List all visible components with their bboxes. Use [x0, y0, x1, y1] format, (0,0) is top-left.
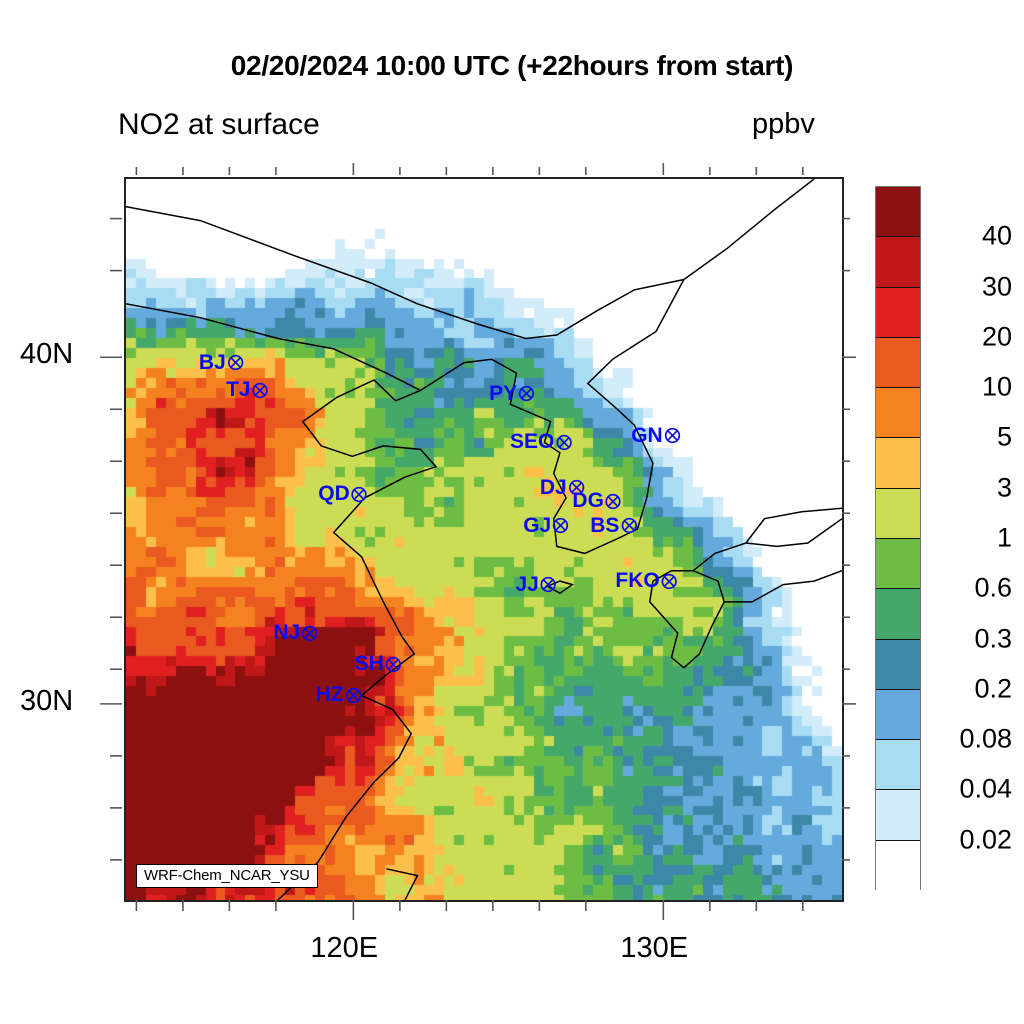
station-label: GN	[631, 424, 663, 448]
station-label: DG	[572, 489, 604, 513]
x-axis-label-130e: 130E	[620, 932, 688, 965]
colorbar-label-7: 0.6	[974, 573, 1012, 604]
station-marker-bs[interactable]: BS	[590, 514, 637, 538]
colorbar-band-0	[876, 187, 920, 237]
circle-x-marker	[385, 656, 402, 673]
station-label: BS	[590, 514, 619, 538]
circle-x-marker	[518, 385, 535, 402]
station-marker-qd[interactable]: QD	[318, 482, 368, 506]
station-label: FKO	[615, 569, 659, 593]
colorbar-label-12: 0.02	[959, 824, 1012, 855]
x-axis-label-120e: 120E	[310, 932, 378, 965]
station-marker-py[interactable]: PY	[489, 382, 535, 406]
station-label: JJ	[515, 573, 538, 597]
no2-forecast-figure: 02/20/2024 10:00 UTC (+22hours from star…	[0, 0, 1024, 1024]
circle-x-marker	[620, 517, 637, 534]
circle-x-marker	[552, 517, 569, 534]
colorbar-band-13	[876, 841, 920, 891]
colorbar-band-1	[876, 237, 920, 287]
station-label: PY	[489, 382, 517, 406]
colorbar-label-11: 0.04	[959, 774, 1012, 805]
station-label: SH	[355, 652, 384, 676]
colorbar-band-12	[876, 790, 920, 840]
colorbar-label-10: 0.08	[959, 724, 1012, 755]
colorbar-band-2	[876, 288, 920, 338]
station-marker-hz[interactable]: HZ	[316, 683, 362, 707]
circle-x-marker	[252, 382, 269, 399]
station-marker-sh[interactable]: SH	[355, 652, 402, 676]
station-label: DJ	[540, 476, 567, 500]
colorbar-label-1: 30	[982, 271, 1012, 302]
colorbar-band-11	[876, 740, 920, 790]
map-plot-area[interactable]: BJTJQDNJSHHZPYSEOGNDJDGGJBSJJFKO WRF-Che…	[124, 177, 844, 902]
station-label: HZ	[316, 683, 344, 707]
colorbar-label-9: 0.2	[974, 673, 1012, 704]
colorbar-label-4: 5	[997, 422, 1012, 453]
colorbar-label-2: 20	[982, 321, 1012, 352]
circle-x-marker	[664, 427, 681, 444]
model-attribution-box: WRF-Chem_NCAR_YSU	[136, 864, 318, 888]
colorbar-label-5: 3	[997, 472, 1012, 503]
colorbar-band-7	[876, 539, 920, 589]
station-label: GJ	[523, 514, 551, 538]
colorbar-band-9	[876, 640, 920, 690]
station-marker-jj[interactable]: JJ	[515, 573, 556, 597]
circle-x-marker	[351, 486, 368, 503]
station-marker-gn[interactable]: GN	[631, 424, 681, 448]
station-label: SEO	[510, 430, 554, 454]
colorbar-band-10	[876, 690, 920, 740]
units-label: ppbv	[752, 108, 815, 141]
colorbar-label-8: 0.3	[974, 623, 1012, 654]
circle-x-marker	[555, 434, 572, 451]
colorbar-band-5	[876, 438, 920, 488]
figure-subtitle: NO2 at surface	[118, 108, 320, 142]
station-marker-nj[interactable]: NJ	[273, 621, 318, 645]
circle-x-marker	[540, 576, 557, 593]
circle-x-marker	[301, 625, 318, 642]
station-marker-dg[interactable]: DG	[572, 489, 622, 513]
colorbar-label-3: 10	[982, 372, 1012, 403]
colorbar[interactable]	[875, 186, 921, 890]
y-axis-label-40n: 40N	[20, 338, 73, 371]
circle-x-marker	[605, 493, 622, 510]
station-marker-fko[interactable]: FKO	[615, 569, 677, 593]
colorbar-label-6: 1	[997, 523, 1012, 554]
station-label: TJ	[226, 378, 251, 402]
colorbar-band-6	[876, 489, 920, 539]
station-label: BJ	[199, 351, 226, 375]
colorbar-band-8	[876, 589, 920, 639]
colorbar-label-0: 40	[982, 221, 1012, 252]
colorbar-tick-labels: 403020105310.60.30.20.080.040.02	[925, 186, 1020, 890]
station-label: QD	[318, 482, 350, 506]
station-label: NJ	[273, 621, 300, 645]
station-marker-tj[interactable]: TJ	[226, 378, 269, 402]
station-marker-gj[interactable]: GJ	[523, 514, 569, 538]
station-marker-bj[interactable]: BJ	[199, 351, 244, 375]
circle-x-marker	[661, 573, 678, 590]
colorbar-band-4	[876, 388, 920, 438]
station-marker-seo[interactable]: SEO	[510, 430, 572, 454]
figure-title: 02/20/2024 10:00 UTC (+22hours from star…	[0, 50, 1024, 82]
circle-x-marker	[345, 687, 362, 704]
y-axis-label-30n: 30N	[20, 685, 73, 718]
circle-x-marker	[227, 354, 244, 371]
colorbar-band-3	[876, 338, 920, 388]
coastline-overlay	[126, 179, 842, 900]
